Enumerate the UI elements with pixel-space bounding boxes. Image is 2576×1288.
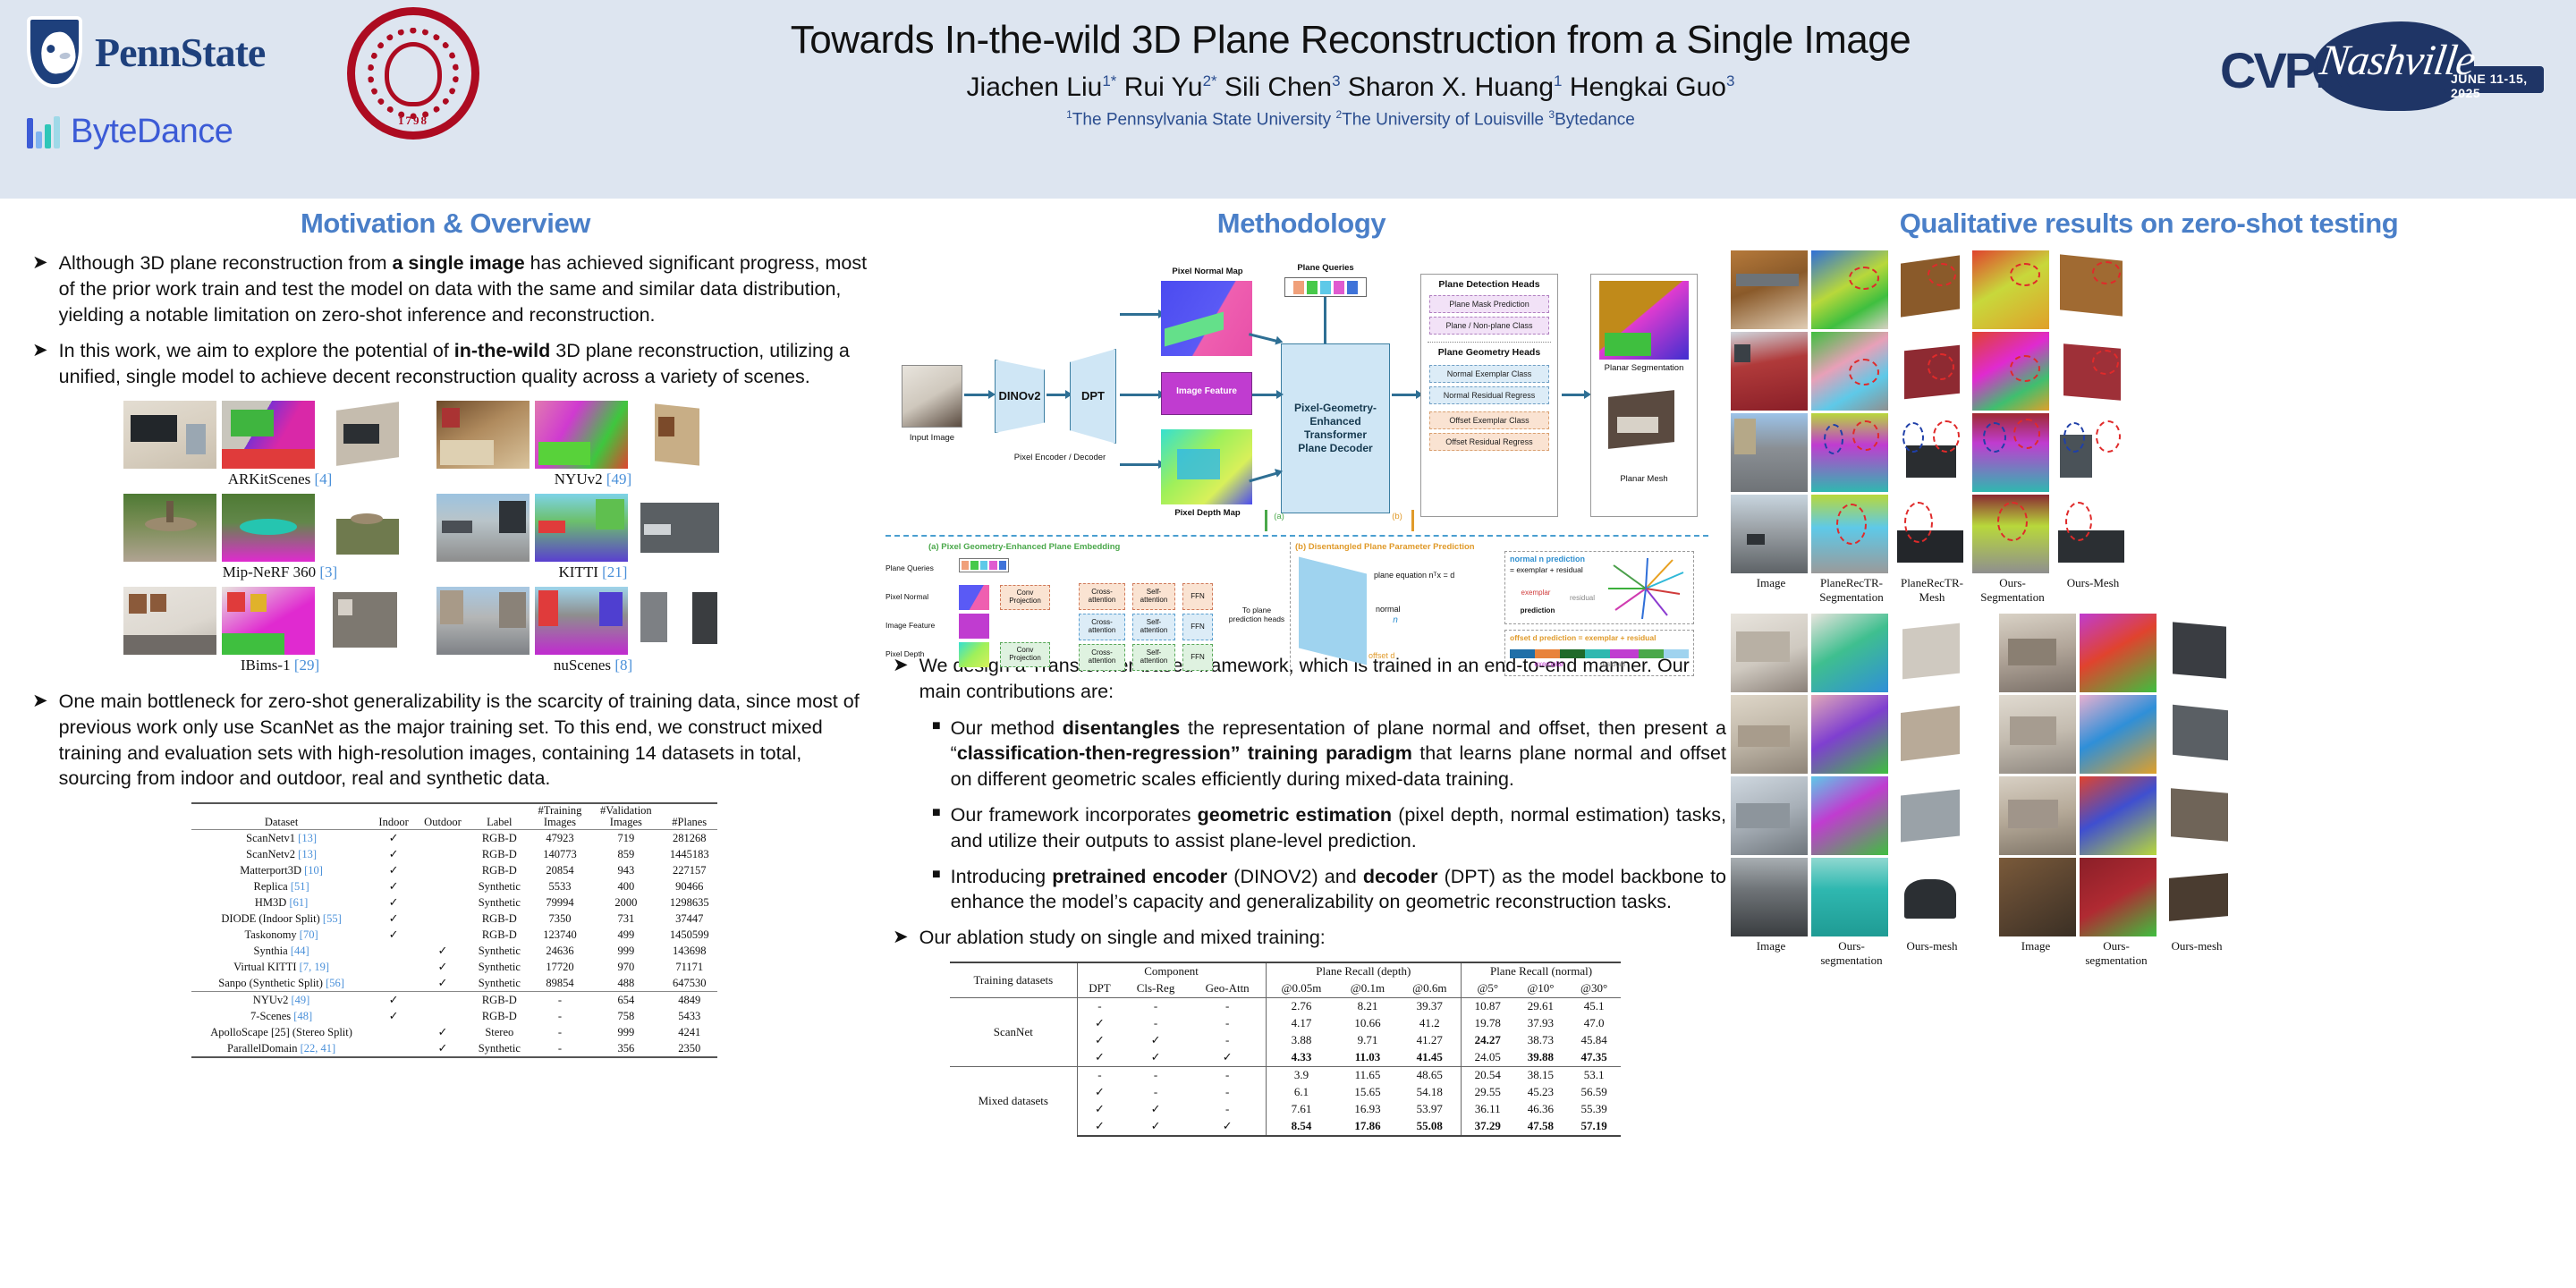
cell-training-images: 89854: [530, 975, 591, 992]
cell-n30: 47.0: [1567, 1015, 1621, 1032]
dataset-caption: nuScenes [8]: [436, 657, 750, 674]
cell-d06: 41.2: [1399, 1015, 1462, 1032]
sub-a-self-attention-depth: Self-attention: [1132, 644, 1175, 671]
qual-planerectr-mesh-cell: [1892, 332, 1969, 411]
arrow-input-to-dinov2: [964, 394, 989, 396]
table-row: Matterport3D [10]✓RGB-D20854943227157: [191, 862, 717, 878]
cell-outdoor: [416, 911, 470, 927]
diagram-detection-heads-title: Plane Detection Heads: [1420, 279, 1558, 290]
diagram-plane-decoder-block: Pixel-Geometry- Enhanced Transformer Pla…: [1281, 343, 1390, 513]
cell-planes: 1298635: [661, 894, 717, 911]
cell-geo-attn: -: [1190, 1084, 1266, 1101]
sub-a-feature-thumb: [959, 614, 989, 639]
sample-segmentation-image: [535, 401, 628, 469]
caption-image: Image: [1731, 576, 1811, 605]
dataset-name: nuScenes: [554, 657, 611, 674]
cell-validation-images: 488: [590, 975, 661, 992]
qual-ours-mesh-cell: [1892, 614, 1969, 692]
cell-training-images: -: [530, 1008, 591, 1024]
table-row: Mixed datasets---3.911.6548.6520.5438.15…: [950, 1066, 1621, 1084]
cell-n5: 20.54: [1462, 1066, 1514, 1084]
qual-planerectr-seg-cell: [1811, 413, 1888, 492]
cell-dpt: ✓: [1077, 1032, 1122, 1049]
diagram-input-image: [902, 365, 962, 428]
head-offset-exemplar-class: Offset Exemplar Class: [1429, 411, 1549, 429]
cell-d005: 4.17: [1266, 1015, 1336, 1032]
caption-ours-segmentation: Ours-Segmentation: [1972, 576, 2053, 605]
diagram-planar-segmentation-image: [1599, 281, 1689, 360]
table-row: ScanNetv2 [13]✓RGB-D1407738591445183: [191, 846, 717, 862]
cell-d06: 41.45: [1399, 1049, 1462, 1067]
sub-a-row-label-queries: Plane Queries: [885, 563, 955, 572]
section-title-motivation: Motivation & Overview: [16, 208, 875, 240]
cell-planes: 71171: [661, 959, 717, 975]
ours-caption-row: Image Ours-segmentation Ours-mesh Image …: [1731, 939, 2567, 968]
cell-cls-reg: -: [1122, 1066, 1189, 1084]
caption-image: Image: [1996, 939, 2076, 968]
diagram-planar-mesh-image: [1599, 381, 1689, 467]
cell-validation-images: 731: [590, 911, 661, 927]
cell-n10: 39.88: [1514, 1049, 1568, 1067]
methodology-bullet-ablation: ➤ Our ablation study on single and mixed…: [893, 925, 1726, 951]
cell-indoor: ✓: [371, 911, 416, 927]
cell-outdoor: [416, 1008, 470, 1024]
th-d005: @0.05m: [1266, 980, 1336, 998]
cell-n5: 24.27: [1462, 1032, 1514, 1049]
qual-image-cell: [1731, 858, 1808, 936]
cell-dpt: ✓: [1077, 1101, 1122, 1118]
bullet-text: Our ablation study on single and mixed t…: [919, 925, 1326, 951]
cell-dataset: Virtual KITTI [7, 19]: [191, 959, 371, 975]
dataset-table-eval-body: NYUv2 [49]✓RGB-D-65448497-Scenes [48]✓RG…: [191, 992, 717, 1058]
arrow-heads-to-output: [1562, 394, 1585, 396]
table-row: ApolloScape [25] (Stereo Split)✓Stereo-9…: [191, 1024, 717, 1040]
cell-d005: 6.1: [1266, 1084, 1336, 1101]
cell-training-images: 20854: [530, 862, 591, 878]
bullet-text: In this work, we aim to explore the pote…: [59, 338, 875, 390]
diagram-planar-segmentation-label: Planar Segmentation: [1590, 363, 1698, 373]
cell-d06: 41.27: [1399, 1032, 1462, 1049]
sample-rgb-image: [123, 587, 216, 655]
cell-indoor: ✓: [371, 894, 416, 911]
cell-outdoor: [416, 830, 470, 847]
ablation-table-head: Training datasets Component Plane Recall…: [950, 962, 1621, 998]
cell-outdoor: ✓: [416, 959, 470, 975]
dataset-sample-row: Mip-NeRF 360 [3]: [123, 494, 750, 585]
cell-d06: 55.08: [1399, 1118, 1462, 1136]
head-offset-residual-regress: Offset Residual Regress: [1429, 433, 1549, 451]
qual-ours-seg-cell: [2080, 858, 2157, 936]
cell-dataset: HM3D [61]: [191, 894, 371, 911]
dataset-name: IBims-1: [241, 657, 291, 674]
cell-validation-images: 758: [590, 1008, 661, 1024]
th-planes: #Planes: [661, 803, 717, 830]
cell-training-images: 17720: [530, 959, 591, 975]
cell-training-images: 140773: [530, 846, 591, 862]
motivation-bullet-3: ➤ One main bottleneck for zero-shot gene…: [32, 689, 875, 792]
arrow-dinov2-to-dpt: [1046, 394, 1066, 396]
cell-indoor: [371, 959, 416, 975]
arrow-queries-to-decoder: [1324, 297, 1326, 343]
bullet-arrow-icon: ➤: [893, 653, 909, 705]
th-line: Images: [594, 817, 657, 828]
cell-planes: 37447: [661, 911, 717, 927]
sub-a-row-label-feature: Image Feature: [885, 621, 955, 630]
dataset-name: NYUv2: [555, 470, 603, 487]
cell-dpt: ✓: [1077, 1118, 1122, 1136]
grid-gap: [1972, 776, 1996, 855]
offset-exemplar-bar-icon: [1510, 649, 1689, 658]
cell-n10: 29.61: [1514, 997, 1568, 1015]
table-header-row: Training datasets Component Plane Recall…: [950, 962, 1621, 980]
sub-b-offset-exemplar-label: exemplar: [1522, 660, 1576, 668]
methodology-sub-bullet-3: ■ Introducing pretrained encoder (DINOV2…: [932, 864, 1726, 916]
arrow-dpt-branch-feature: [1120, 394, 1159, 396]
dataset-sample-mipnerf: Mip-NeRF 360 [3]: [123, 494, 436, 585]
cell-cls-reg: -: [1122, 1015, 1189, 1032]
sub-b-residual-label: residual: [1562, 594, 1603, 602]
qual-image-cell: [1731, 413, 1808, 492]
th-outdoor: Outdoor: [416, 803, 470, 830]
cell-training-images: 123740: [530, 927, 591, 943]
decoder-line: Enhanced: [1294, 415, 1377, 428]
cell-validation-images: 2000: [590, 894, 661, 911]
cell-indoor: ✓: [371, 1008, 416, 1024]
caption-ours-mesh: Ours-mesh: [1892, 939, 1972, 968]
cell-dataset: ParallelDomain [22, 41]: [191, 1040, 371, 1057]
qual-image-cell: [1999, 858, 2076, 936]
sub-b-plane-shape: [1299, 557, 1367, 665]
dataset-ref: [4]: [314, 470, 332, 487]
th-dpt: DPT: [1077, 980, 1122, 998]
sample-mesh-image: [320, 401, 413, 469]
sub-a-cross-attention-depth: Cross-attention: [1079, 644, 1125, 671]
cell-training-images: -: [530, 992, 591, 1009]
dataset-sample-kitti: KITTI [21]: [436, 494, 750, 585]
sample-segmentation-image: [535, 587, 628, 655]
dataset-caption: IBims-1 [29]: [123, 657, 436, 674]
cell-indoor: [371, 1040, 416, 1057]
sample-rgb-image: [436, 587, 530, 655]
cell-n30: 53.1: [1567, 1066, 1621, 1084]
cell-d005: 3.9: [1266, 1066, 1336, 1084]
motivation-bullet-2: ➤ In this work, we aim to explore the po…: [32, 338, 875, 390]
sample-segmentation-image: [535, 494, 628, 562]
cell-dataset: Replica [51]: [191, 878, 371, 894]
marker-b-arrow-icon: [1411, 510, 1414, 531]
sub-b-divider: [1290, 542, 1291, 676]
cell-label: RGB-D: [470, 992, 530, 1009]
cell-validation-images: 356: [590, 1040, 661, 1057]
section-title-qualitative: Qualitative results on zero-shot testing: [1731, 208, 2567, 240]
sub-a-self-attention-feature: Self-attention: [1132, 614, 1175, 640]
pennstate-logo: PennState: [27, 16, 265, 88]
table-row: Synthia [44]✓Synthetic24636999143698: [191, 943, 717, 959]
dataset-sample-nyuv2: NYUv2 [49]: [436, 401, 750, 492]
cell-outdoor: [416, 992, 470, 1009]
qual-ours-mesh-cell: [2053, 413, 2130, 492]
marker-b-label: (b): [1386, 512, 1408, 521]
cell-indoor: ✓: [371, 992, 416, 1009]
sub-b-title: (b) Disentangled Plane Parameter Predict…: [1295, 542, 1510, 552]
qual-ours-seg-cell: [1811, 614, 1888, 692]
cell-n30: 55.39: [1567, 1101, 1621, 1118]
qual-ours-mesh-cell: [2160, 858, 2237, 936]
sample-mesh-image: [633, 587, 726, 655]
dataset-table: Dataset Indoor Outdoor Label #Training I…: [191, 802, 717, 1058]
bullet-text: Although 3D plane reconstruction from a …: [59, 250, 875, 327]
sample-mesh-image: [633, 401, 726, 469]
heads-divider: [1428, 342, 1551, 343]
cell-d01: 17.86: [1336, 1118, 1398, 1136]
sub-bullet-text: Our method disentangles the representati…: [951, 716, 1726, 792]
dataset-sample-nuscenes: nuScenes [8]: [436, 587, 750, 678]
head-plane-mask-prediction: Plane Mask Prediction: [1429, 295, 1549, 313]
sample-segmentation-image: [222, 494, 315, 562]
th-d01: @0.1m: [1336, 980, 1398, 998]
cell-validation-images: 400: [590, 878, 661, 894]
qual-image-cell: [1731, 495, 1808, 573]
cell-n10: 38.73: [1514, 1032, 1568, 1049]
table-row: Sanpo (Synthetic Split) [56]✓Synthetic89…: [191, 975, 717, 992]
cell-label: Synthetic: [470, 1040, 530, 1057]
qualitative-row: [1731, 332, 2567, 411]
caption-planerectr-mesh: PlaneRecTR-Mesh: [1892, 576, 1972, 605]
cell-n5: 19.78: [1462, 1015, 1514, 1032]
sub-b-offset-pred-title: offset d prediction = exemplar + residua…: [1510, 633, 1692, 642]
normal-vectors-icon: [1601, 553, 1690, 623]
sub-b-equation: plane equation nᵀx = d: [1374, 571, 1526, 580]
table-row: Taskonomy [70]✓RGB-D1237404991450599: [191, 927, 717, 943]
dataset-caption: Mip-NeRF 360 [3]: [123, 563, 436, 581]
cell-label: RGB-D: [470, 1008, 530, 1024]
diagram-image-feature-label: Image Feature: [1161, 386, 1252, 396]
qual-ours-mesh-cell: [1892, 695, 1969, 774]
dataset-name: Mip-NeRF 360: [223, 563, 316, 580]
cell-training-images: -: [530, 1024, 591, 1040]
qual-image-cell: [1999, 614, 2076, 692]
caption-ours-segmentation: Ours-segmentation: [1811, 939, 1892, 968]
sub-a-ffn-depth: FFN: [1182, 644, 1213, 671]
cell-dpt: -: [1077, 1066, 1122, 1084]
column-methodology: Methodology Input Image DINOv2 DPT Pixel…: [877, 208, 1726, 1137]
diagram-depth-map-label: Pixel Depth Map: [1154, 508, 1261, 518]
cell-d06: 48.65: [1399, 1066, 1462, 1084]
sub-a-cross-attention-normal: Cross-attention: [1079, 583, 1125, 610]
qual-ours-seg-cell: [1972, 413, 2049, 492]
ablation-table-body: ScanNet---2.768.2139.3710.8729.6145.1✓--…: [950, 997, 1621, 1136]
section-title-methodology: Methodology: [877, 208, 1726, 240]
cell-d06: 39.37: [1399, 997, 1462, 1015]
diagram-divider: [885, 535, 1708, 537]
page-title: Towards In-the-wild 3D Plane Reconstruct…: [626, 18, 2075, 64]
cell-training-images: 7350: [530, 911, 591, 927]
cell-planes: 5433: [661, 1008, 717, 1024]
dataset-table-head: Dataset Indoor Outdoor Label #Training I…: [191, 803, 717, 830]
diagram-dpt-label: DPT: [1070, 389, 1116, 402]
sample-mesh-image: [320, 587, 413, 655]
cell-label: Synthetic: [470, 975, 530, 992]
cell-planes: 90466: [661, 878, 717, 894]
qual-image-cell: [1999, 776, 2076, 855]
sample-mesh-image: [320, 494, 413, 562]
cvpr-logo: CVPR Nashville JUNE 11-15, 2025: [2220, 16, 2551, 113]
cell-outdoor: [416, 862, 470, 878]
cell-label: Synthetic: [470, 959, 530, 975]
bullet-text: One main bottleneck for zero-shot genera…: [59, 689, 875, 792]
qual-ours-seg-cell: [2080, 695, 2157, 774]
qual-ours-seg-cell: [1972, 332, 2049, 411]
sub-a-ffn-feature: FFN: [1182, 614, 1213, 640]
comparison-grid: Image PlaneRecTR-Segmentation PlaneRecTR…: [1731, 250, 2567, 605]
caption-planerectr-segmentation: PlaneRecTR-Segmentation: [1811, 576, 1892, 605]
qual-ours-mesh-cell: [2160, 695, 2237, 774]
table-row: ParallelDomain [22, 41]✓Synthetic-356235…: [191, 1040, 717, 1057]
qual-ours-seg-cell: [2080, 614, 2157, 692]
sample-segmentation-image: [222, 401, 315, 469]
caption-ours-mesh: Ours-mesh: [2157, 939, 2237, 968]
ablation-table: Training datasets Component Plane Recall…: [950, 962, 1621, 1137]
cell-indoor: ✓: [371, 830, 416, 847]
cell-cls-reg: ✓: [1122, 1032, 1189, 1049]
cell-geo-attn: ✓: [1190, 1049, 1266, 1067]
th-component: Component: [1077, 962, 1266, 980]
cell-training-images: 24636: [530, 943, 591, 959]
qual-ours-mesh-cell: [2160, 776, 2237, 855]
cell-cls-reg: ✓: [1122, 1101, 1189, 1118]
sub-bullet-text: Our framework incorporates geometric est…: [951, 802, 1726, 854]
qual-image-cell: [1731, 250, 1808, 329]
bytedance-logo: ByteDance: [27, 113, 233, 151]
louisville-seal-icon: 1798: [347, 7, 479, 140]
cell-n30: 57.19: [1567, 1118, 1621, 1136]
diagram-dinov2-label: DINOv2: [995, 389, 1045, 402]
cell-training-images: -: [530, 1040, 591, 1057]
title-block: Towards In-the-wild 3D Plane Reconstruct…: [626, 18, 2075, 130]
qual-ours-seg-cell: [1972, 495, 2049, 573]
sub-b-offset-residual-label: residual: [1590, 660, 1635, 668]
sub-a-queries-swatch: [959, 558, 1009, 572]
affiliation-list: 1The Pennsylvania State University 2The …: [626, 108, 2075, 130]
sub-b-normal-symbol: n: [1386, 615, 1404, 625]
cell-dataset: ScanNetv1 [13]: [191, 830, 371, 847]
cell-dataset: DIODE (Indoor Split) [55]: [191, 911, 371, 927]
bullet-arrow-icon: ➤: [32, 250, 48, 327]
cell-dataset: Synthia [44]: [191, 943, 371, 959]
dataset-ref: [29]: [294, 657, 319, 674]
th-dataset: Dataset: [191, 803, 371, 830]
cell-validation-images: 999: [590, 1024, 661, 1040]
qual-ours-mesh-cell: [2053, 250, 2130, 329]
pennstate-wordmark: PennState: [95, 29, 265, 76]
cell-n30: 56.59: [1567, 1084, 1621, 1101]
diagram-planar-mesh-label: Planar Mesh: [1590, 474, 1698, 484]
cell-dataset: Sanpo (Synthetic Split) [56]: [191, 975, 371, 992]
qualitative-row: [1731, 495, 2567, 573]
cell-outdoor: [416, 878, 470, 894]
ours-only-grid: Image Ours-segmentation Ours-mesh Image …: [1731, 614, 2567, 968]
cell-planes: 647530: [661, 975, 717, 992]
cell-planes: 2350: [661, 1040, 717, 1057]
pennstate-shield-icon: [27, 16, 82, 88]
table-row: Virtual KITTI [7, 19]✓Synthetic177209707…: [191, 959, 717, 975]
qual-image-cell: [1731, 695, 1808, 774]
cell-dataset: Matterport3D [10]: [191, 862, 371, 878]
qualitative-row: [1731, 413, 2567, 492]
arrow-depth-to-decoder: [1249, 472, 1276, 482]
diagram-plane-queries-swatches: [1284, 277, 1367, 297]
qual-planerectr-seg-cell: [1811, 250, 1888, 329]
qual-ours-mesh-cell: [1892, 858, 1969, 936]
cell-outdoor: [416, 846, 470, 862]
cell-dataset: ApolloScape [25] (Stereo Split): [191, 1024, 371, 1040]
cell-n5: 36.11: [1462, 1101, 1514, 1118]
cell-geo-attn: -: [1190, 1101, 1266, 1118]
cell-indoor: [371, 975, 416, 992]
comparison-caption-row: Image PlaneRecTR-Segmentation PlaneRecTR…: [1731, 576, 2567, 605]
cell-planes: 4849: [661, 992, 717, 1009]
qual-planerectr-seg-cell: [1811, 495, 1888, 573]
cell-d01: 11.03: [1336, 1049, 1398, 1067]
sub-b-exemplar-label: exemplar: [1512, 589, 1560, 597]
dataset-sample-row: ARKitScenes [4]: [123, 401, 750, 492]
methodology-sub-bullet-2: ■ Our framework incorporates geometric e…: [932, 802, 1726, 854]
dataset-table-train-body: ScanNetv1 [13]✓RGB-D47923719281268ScanNe…: [191, 830, 717, 992]
cell-outdoor: ✓: [416, 943, 470, 959]
cell-dpt: ✓: [1077, 1049, 1122, 1067]
table-row: ScanNetv1 [13]✓RGB-D47923719281268: [191, 830, 717, 847]
qual-planerectr-mesh-cell: [1892, 495, 1969, 573]
cvpr-date-label: JUNE 11-15, 2025: [2451, 72, 2551, 100]
diagram-normal-map-label: Pixel Normal Map: [1154, 267, 1261, 276]
sub-a-cross-attention-feature: Cross-attention: [1079, 614, 1125, 640]
column-motivation: Motivation & Overview ➤ Although 3D plan…: [16, 208, 875, 1058]
cell-geo-attn: -: [1190, 1066, 1266, 1084]
dataset-ref: [49]: [606, 470, 631, 487]
cell-n10: 47.58: [1514, 1118, 1568, 1136]
motivation-bullet-1: ➤ Although 3D plane reconstruction from …: [32, 250, 875, 327]
head-normal-exemplar-class: Normal Exemplar Class: [1429, 365, 1549, 383]
cell-n30: 45.84: [1567, 1032, 1621, 1049]
sub-b-normal-label: normal: [1376, 605, 1429, 614]
cell-indoor: ✓: [371, 862, 416, 878]
cell-cls-reg: ✓: [1122, 1049, 1189, 1067]
cell-label: RGB-D: [470, 846, 530, 862]
cell-planes: 4241: [661, 1024, 717, 1040]
qual-ours-seg-cell: [1972, 250, 2049, 329]
cell-outdoor: [416, 894, 470, 911]
cell-d005: 7.61: [1266, 1101, 1336, 1118]
cell-planes: 281268: [661, 830, 717, 847]
caption-image: Image: [1731, 939, 1811, 968]
grid-gap: [1972, 695, 1996, 774]
sub-a-output-label: To plane prediction heads: [1227, 606, 1286, 624]
cell-validation-images: 859: [590, 846, 661, 862]
qual-ours-seg-cell: [1811, 858, 1888, 936]
table-row: HM3D [61]✓Synthetic7999420001298635: [191, 894, 717, 911]
sub-a-depth-thumb: [959, 642, 989, 667]
table-row: Replica [51]✓Synthetic553340090466: [191, 878, 717, 894]
cell-n30: 47.35: [1567, 1049, 1621, 1067]
cell-training-images: 79994: [530, 894, 591, 911]
cell-indoor: [371, 943, 416, 959]
cell-label: RGB-D: [470, 927, 530, 943]
cell-label: Synthetic: [470, 894, 530, 911]
column-qualitative: Qualitative results on zero-shot testing: [1731, 208, 2567, 977]
cell-d01: 10.66: [1336, 1015, 1398, 1032]
cell-d06: 53.97: [1399, 1101, 1462, 1118]
th-d06: @0.6m: [1399, 980, 1462, 998]
